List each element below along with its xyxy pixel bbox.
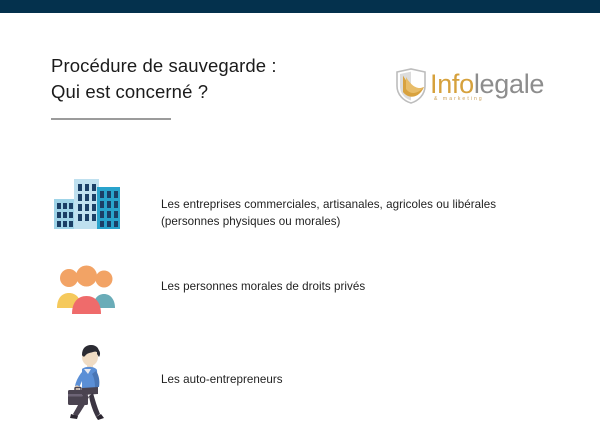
slide-header: Procédure de sauvegarde : Qui est concer… [0,13,600,128]
brand-wordmark-secondary: legale [474,69,544,99]
list-item: Les entreprises commerciales, artisanale… [0,128,600,216]
title-underline-rule [51,118,171,120]
list-item: Les auto-entrepreneurs [0,304,600,392]
top-accent-bar [0,0,600,13]
page-title-line-1: Procédure de sauvegarde : [51,53,381,79]
list-item-label: Les auto-entrepreneurs [161,371,541,388]
infolegale-shield-icon [394,68,428,104]
bullet-list: Les entreprises commerciales, artisanale… [0,128,600,392]
list-item: Les personnes morales de droits privés [0,216,600,304]
page-title: Procédure de sauvegarde : Qui est concer… [51,53,381,105]
brand-tagline: & marketing [434,96,484,102]
page-title-line-2: Qui est concerné ? [51,79,381,105]
brand-logo: Infolegale & marketing [394,66,544,112]
brand-wordmark-primary: Info [430,69,474,99]
slide: Procédure de sauvegarde : Qui est concer… [0,0,600,431]
list-item-label: Les personnes morales de droits privés [161,278,541,295]
walking-businessman-icon [52,344,122,416]
